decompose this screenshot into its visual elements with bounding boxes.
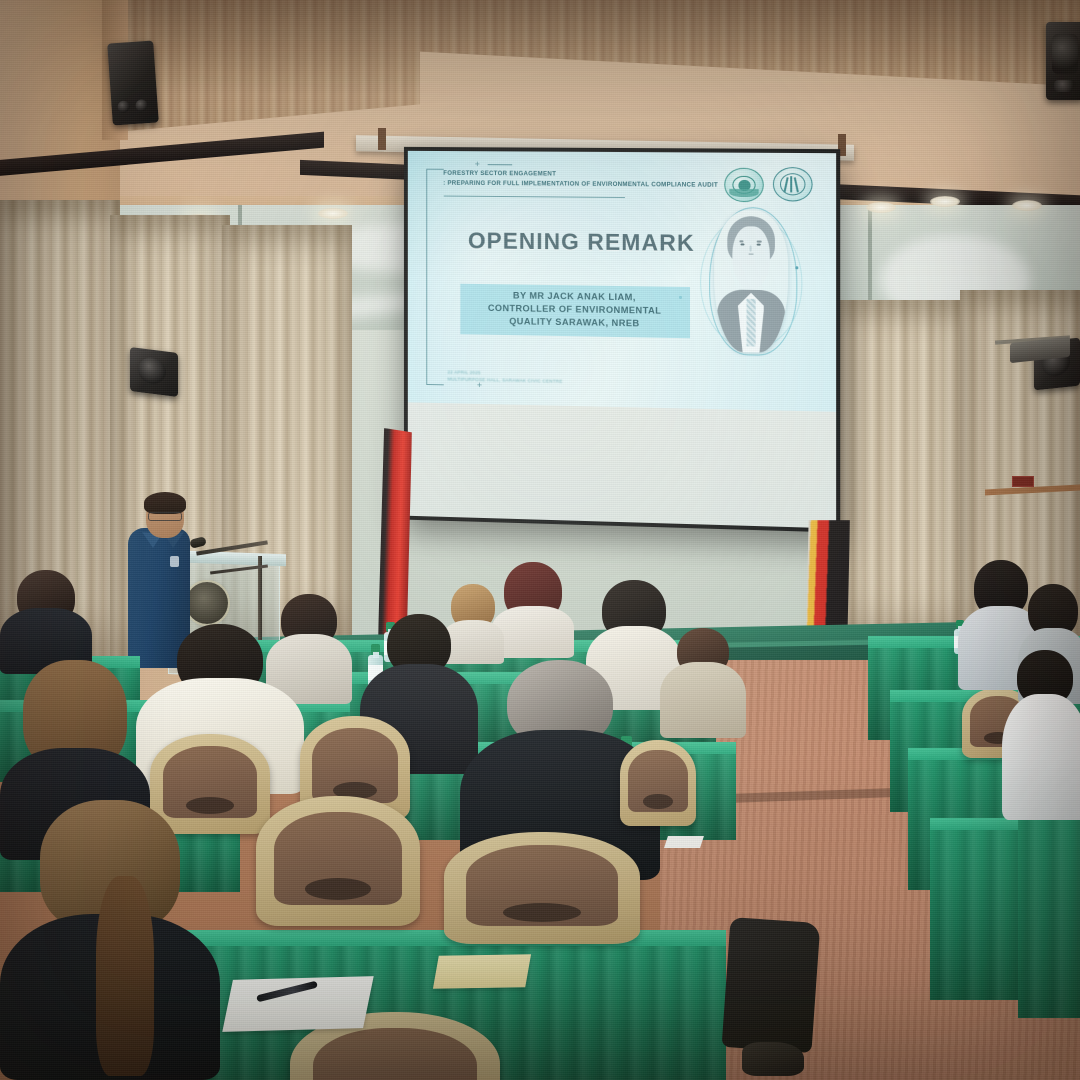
downlight-icon (318, 208, 348, 219)
flag-right (806, 520, 850, 640)
ceiling-speaker-right-icon (1046, 22, 1080, 100)
slide-kicker-line-1: FORESTRY SECTOR ENGAGEMENT (443, 170, 707, 179)
chair (256, 796, 420, 926)
exit-sign (1012, 476, 1034, 487)
glasses-icon (148, 512, 182, 521)
portrait-eye (757, 243, 761, 246)
projection-screen: + + FORESTRY SECTOR ENGAGEMENT : PREPARI… (404, 147, 840, 533)
backpack (722, 917, 821, 1053)
attendee (0, 570, 92, 674)
projection-screen-surface: + + FORESTRY SECTOR ENGAGEMENT : PREPARI… (408, 151, 836, 529)
curtain-panel-right (840, 300, 970, 650)
chair (444, 832, 640, 944)
screen-blank-area (408, 403, 836, 529)
slide-corner-bracket (427, 169, 444, 386)
shoe (742, 1042, 804, 1076)
portrait-eye (740, 243, 744, 246)
wall-speaker-left-icon (130, 347, 178, 397)
portrait-image (715, 210, 788, 353)
ponytail (96, 876, 154, 1076)
speaker-portrait (707, 204, 798, 360)
table-row (1018, 806, 1080, 1006)
portrait-mouth (748, 253, 753, 254)
speaker-hair (144, 492, 186, 514)
slide-tick (487, 164, 512, 165)
conference-hall-photo: + + FORESTRY SECTOR ENGAGEMENT : PREPARI… (0, 0, 1080, 1080)
yellow-notepad (433, 954, 531, 989)
ceiling-speaker-icon (107, 40, 159, 125)
attendee (1002, 650, 1080, 820)
presentation-slide: + + FORESTRY SECTOR ENGAGEMENT : PREPARI… (408, 151, 836, 412)
slide-byline-panel: BY MR JACK ANAK LIAM, CONTROLLER OF ENVI… (460, 284, 690, 338)
attendee (660, 628, 746, 738)
note-sheet (664, 836, 704, 848)
screen-bracket (378, 128, 386, 150)
agency-seal-logo (773, 167, 813, 202)
chair (620, 740, 696, 826)
downlight-icon (866, 202, 896, 213)
portrait-face (732, 226, 770, 290)
portrait-brow (739, 241, 744, 243)
portrait-nose (750, 246, 752, 252)
state-crest-ring (184, 580, 230, 626)
slide-kicker-block: FORESTRY SECTOR ENGAGEMENT : PREPARING F… (443, 170, 707, 188)
slide-plus-marker: + (475, 160, 480, 169)
downlight-icon (1012, 200, 1042, 211)
slide-heading: OPENING REMARK (450, 227, 714, 257)
downlight-icon (930, 196, 960, 207)
nreb-logo (725, 168, 764, 202)
portrait-brow (757, 241, 762, 243)
portrait-tie (747, 298, 756, 346)
speaker-badge (170, 556, 179, 567)
attendee (492, 562, 574, 658)
